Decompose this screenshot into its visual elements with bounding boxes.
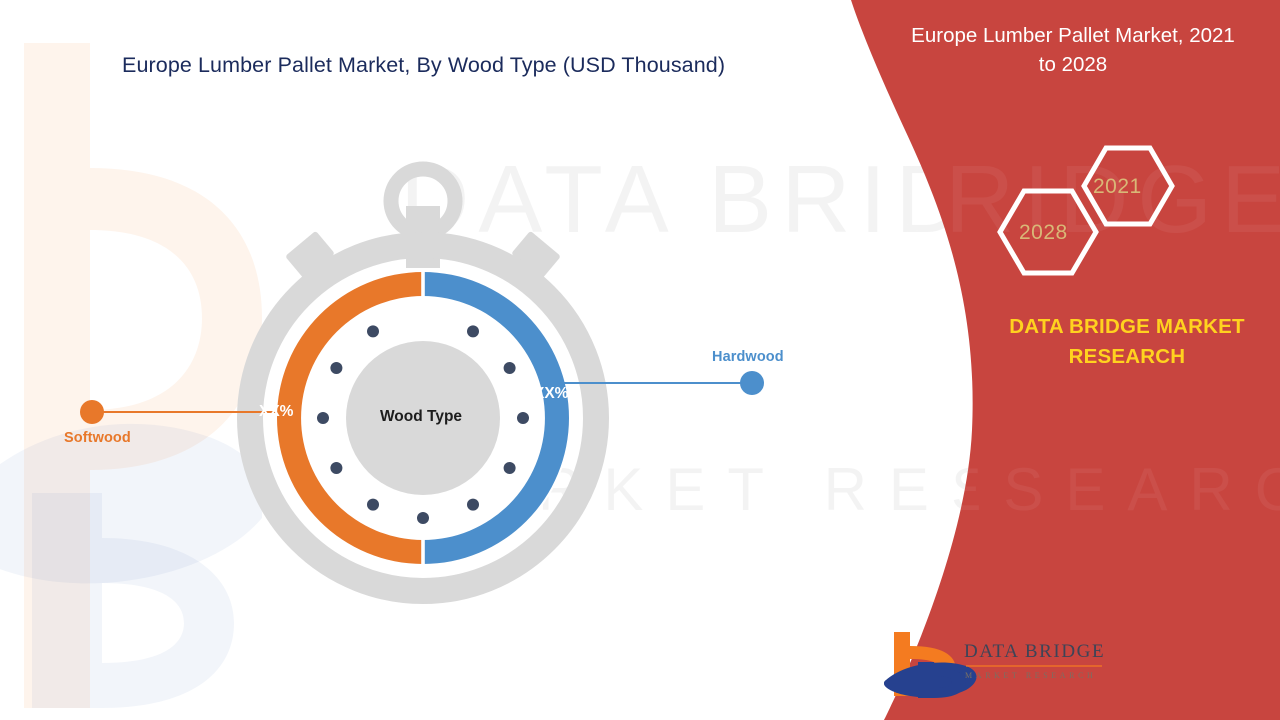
hexagon-2021-label: 2021 xyxy=(1093,175,1142,199)
infographic-canvas: DATA BRIDGE MARKET RESEARCH BRIDGE RESEA… xyxy=(0,0,1280,720)
callout-value-hardwood: XX% xyxy=(534,385,568,403)
svg-text:BRIDGE: BRIDGE xyxy=(872,146,1280,253)
svg-text:RESEARCH: RESEARCH xyxy=(876,456,1280,523)
hexagon-2028-label: 2028 xyxy=(1019,221,1068,245)
donut-center-label: Wood Type xyxy=(350,408,492,426)
logo-wordmark: DATA BRIDGE xyxy=(964,641,1105,663)
callout-value-softwood: XX% xyxy=(259,403,293,421)
chart-title: Europe Lumber Pallet Market, By Wood Typ… xyxy=(122,52,822,79)
dbmr-logo-icon xyxy=(884,628,1102,700)
callout-label-softwood: Softwood xyxy=(64,430,131,446)
panel-title: Europe Lumber Pallet Market, 2021 to 202… xyxy=(900,21,1246,79)
logo-tagline: MARKET RESEARCH xyxy=(965,671,1096,680)
brand-name: DATA BRIDGE MARKET RESEARCH xyxy=(986,312,1268,371)
callout-label-hardwood: Hardwood xyxy=(712,349,784,365)
